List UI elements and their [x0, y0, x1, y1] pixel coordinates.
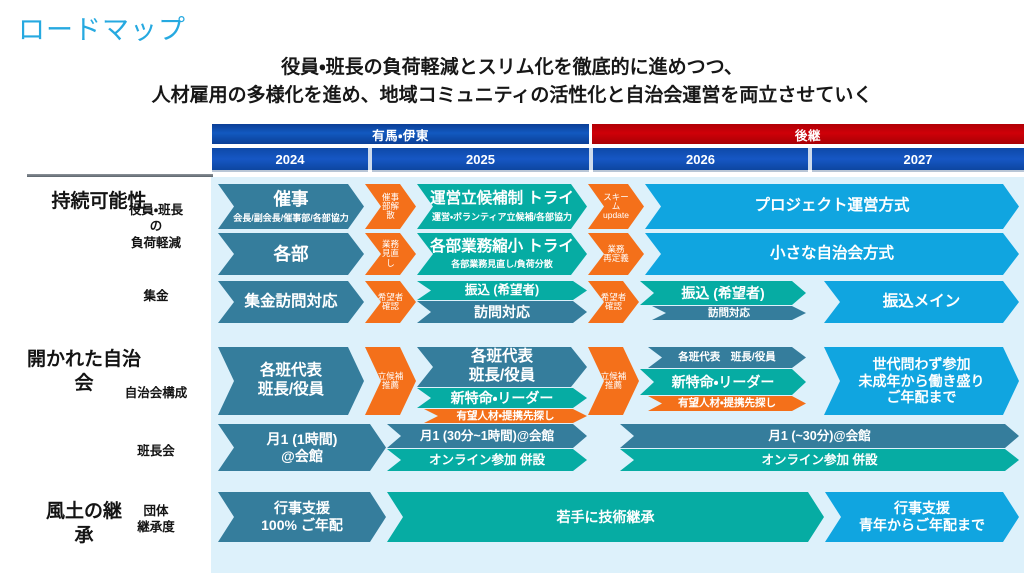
- bar-r4-group-reps-3[interactable]: 各班代表 班長/役員: [648, 347, 806, 368]
- bar-r6-skills-to-youth-title: 若手に技術継承: [557, 509, 655, 526]
- bar-r2-small-association-title: 小さな自治会方式: [770, 245, 894, 264]
- row-label-officer-burden-l3: 負荷軽減: [96, 235, 216, 251]
- bar-r5-monthly-meeting-1[interactable]: 月1 (1時間) @会館: [218, 424, 386, 471]
- bar-r1-candidacy-trial-sub: 運営・ボランティア立候補/各部協力: [432, 210, 572, 223]
- bar-r6-event-support-2[interactable]: 行事支援 青年からご年配まで: [825, 492, 1019, 542]
- bar-r2-downsizing-trial[interactable]: 各部業務縮小 トライ 各部業務見直し/負荷分散: [417, 233, 587, 275]
- bar-r5-monthly-meeting-3[interactable]: 月1 (~30分)@会館: [620, 424, 1019, 448]
- bar-r1-saiji-title: 催事: [274, 189, 309, 210]
- bar-r4-candidacy-nomination-2-l2: 推薦: [605, 381, 622, 390]
- bar-r4-group-reps-1-l2: 班長/役員: [258, 381, 324, 400]
- bar-r6-event-support-2-l1: 行事支援: [894, 500, 950, 517]
- bar-r4-talent-search-2-title: 有望人材・提携先探し: [678, 397, 776, 410]
- bar-r6-event-support-1[interactable]: 行事支援 100% ご年配: [218, 492, 386, 542]
- header-band-arima-ito: 有馬・伊東: [212, 124, 589, 144]
- header-band-successor: 後継: [592, 124, 1024, 144]
- year-cell-2026: 2026: [593, 148, 808, 172]
- roadmap-slide: ロードマップ 役員・班長の負荷軽減とスリム化を徹底的に進めつつ、 人材雇用の多様…: [0, 0, 1024, 573]
- subtitle-line-2: 人材雇用の多様化を進め、地域コミュニティの活性化と自治会運営を両立させていく: [0, 82, 1024, 110]
- bar-r5-monthly-meeting-2[interactable]: 月1 (30分~1時間)@会館: [387, 424, 587, 448]
- group-label-open-association-l1: 開かれた自治: [4, 348, 164, 372]
- row-label-officer-burden-l2: の: [96, 218, 216, 234]
- row-label-collection: 集金: [96, 288, 216, 304]
- bar-r4-talent-search-1[interactable]: 有望人材・提携先探し: [424, 409, 587, 423]
- bar-r4-group-reps-1-l1: 各班代表: [260, 362, 322, 381]
- bar-r6-event-support-1-l2: 100% ご年配: [261, 517, 343, 534]
- row-label-association-structure: 自治会構成: [96, 385, 216, 401]
- bar-r2-ops-redefinition-l2: 再定義: [603, 254, 629, 263]
- bar-r5-online-option-2[interactable]: オンライン参加 併設: [620, 449, 1019, 471]
- bar-r2-small-association[interactable]: 小さな自治会方式: [645, 233, 1019, 275]
- bar-r3-applicant-check-2-l2: 確認: [605, 302, 622, 311]
- bar-r5-monthly-meeting-2-title: 月1 (30分~1時間)@会館: [420, 429, 554, 444]
- bar-r3-visit-response-2-title: 訪問対応: [708, 307, 750, 320]
- subtitle: 役員・班長の負荷軽減とスリム化を徹底的に進めつつ、 人材雇用の多様化を進め、地域…: [0, 54, 1024, 109]
- bar-r5-monthly-meeting-1-l1: 月1 (1時間): [267, 431, 338, 448]
- bar-r2-departments[interactable]: 各部: [218, 233, 364, 275]
- bar-r4-candidacy-nomination-1-l2: 推薦: [382, 381, 399, 390]
- bar-r6-skills-to-youth[interactable]: 若手に技術継承: [387, 492, 824, 542]
- bar-r4-talent-search-1-title: 有望人材・提携先探し: [456, 410, 554, 423]
- bar-r1-saiji-sub: 会長/副会長/催事部/各部協力: [233, 211, 349, 224]
- year-cell-2025: 2025: [372, 148, 589, 172]
- bar-r2-downsizing-trial-title: 各部業務縮小 トライ: [430, 238, 574, 257]
- year-cell-2027: 2027: [812, 148, 1024, 172]
- bar-r4-new-leader-2[interactable]: 新特命・リーダー: [640, 369, 806, 395]
- subtitle-line-1: 役員・班長の負荷軽減とスリム化を徹底的に進めつつ、: [281, 57, 743, 78]
- bar-r5-online-option-2-title: オンライン参加 併設: [762, 453, 878, 468]
- bar-r4-all-generations[interactable]: 世代問わず参加 未成年から働き盛り ご年配まで: [824, 347, 1019, 415]
- bar-r4-group-reps-1[interactable]: 各班代表 班長/役員: [218, 347, 364, 415]
- left-divider-rule: [27, 174, 213, 177]
- bar-r6-event-support-2-l2: 青年からご年配まで: [859, 517, 985, 534]
- row-label-leaders-meeting: 班長会: [96, 443, 216, 459]
- bar-r2-departments-title: 各部: [274, 244, 309, 265]
- row-label-succession-rate-l1: 団体: [96, 503, 216, 519]
- bar-r6-event-support-1-l1: 行事支援: [274, 500, 330, 517]
- bar-r4-new-leader-1-title: 新特命・リーダー: [451, 390, 554, 407]
- bar-r3-transfer-main-title: 振込メイン: [883, 293, 961, 312]
- bar-r1-candidacy-trial-title: 運営立候補制 トライ: [430, 190, 574, 209]
- row-label-succession-rate-l2: 継承度: [96, 519, 216, 535]
- bar-r1-scheme-update-l3: update: [603, 211, 629, 220]
- bar-r3-transfer-optional-2-title: 振込 (希望者): [681, 285, 764, 302]
- page-title: ロードマップ: [18, 8, 186, 47]
- row-label-officer-burden: 役員・班長 の 負荷軽減: [96, 202, 216, 251]
- bar-r3-transfer-main[interactable]: 振込メイン: [824, 281, 1019, 323]
- row-label-officer-burden-l1: 役員・班長: [96, 202, 216, 218]
- bar-r1-project-management[interactable]: プロジェクト運営方式: [645, 184, 1019, 229]
- bar-r3-visit-response-1-title: 訪問対応: [474, 304, 530, 321]
- bar-r3-visit-response-1[interactable]: 訪問対応: [417, 301, 587, 323]
- bar-r3-transfer-optional-2[interactable]: 振込 (希望者): [640, 281, 806, 305]
- bar-r4-group-reps-3-title: 各班代表 班長/役員: [678, 351, 775, 364]
- bar-r3-applicant-check-1-l2: 確認: [382, 302, 399, 311]
- bar-r4-talent-search-2[interactable]: 有望人材・提携先探し: [648, 396, 806, 411]
- bar-r1-project-management-title: プロジェクト運営方式: [754, 197, 909, 216]
- bar-r3-visit-collection-title: 集金訪問対応: [244, 293, 337, 312]
- bar-r1-candidacy-trial[interactable]: 運営立候補制 トライ 運営・ボランティア立候補/各部協力: [417, 184, 587, 229]
- bar-r3-transfer-optional-1[interactable]: 振込 (希望者): [417, 281, 587, 300]
- bar-r1-saiji-dissolve-l3: 散: [386, 211, 395, 220]
- bar-r3-visit-collection[interactable]: 集金訪問対応: [218, 281, 364, 323]
- bar-r2-ops-review-l3: し: [386, 259, 395, 268]
- bar-r4-group-reps-2-l1: 各班代表: [471, 348, 533, 367]
- bar-r5-monthly-meeting-3-title: 月1 (~30分)@会館: [768, 429, 870, 444]
- bar-r4-all-generations-l2: 未成年から働き盛り: [859, 373, 985, 390]
- bar-r5-monthly-meeting-1-l2: @会館: [281, 448, 323, 465]
- bar-r1-saiji[interactable]: 催事 会長/副会長/催事部/各部協力: [218, 184, 364, 229]
- bar-r4-all-generations-l3: ご年配まで: [887, 389, 957, 406]
- bar-r5-online-option-1-title: オンライン参加 併設: [429, 453, 545, 468]
- bar-r4-all-generations-l1: 世代問わず参加: [873, 356, 971, 373]
- bar-r2-downsizing-trial-sub: 各部業務見直し/負荷分散: [451, 257, 553, 270]
- bar-r5-online-option-1[interactable]: オンライン参加 併設: [387, 449, 587, 471]
- row-label-succession-rate: 団体 継承度: [96, 503, 216, 536]
- bar-r3-transfer-optional-1-title: 振込 (希望者): [465, 283, 539, 298]
- bar-r4-group-reps-2-l2: 班長/役員: [469, 367, 535, 386]
- year-cell-2024: 2024: [212, 148, 368, 172]
- bar-r4-new-leader-1[interactable]: 新特命・リーダー: [417, 388, 587, 408]
- bar-r4-group-reps-2[interactable]: 各班代表 班長/役員: [417, 347, 587, 387]
- bar-r4-new-leader-2-title: 新特命・リーダー: [672, 374, 775, 391]
- bar-r3-visit-response-2[interactable]: 訪問対応: [652, 306, 806, 320]
